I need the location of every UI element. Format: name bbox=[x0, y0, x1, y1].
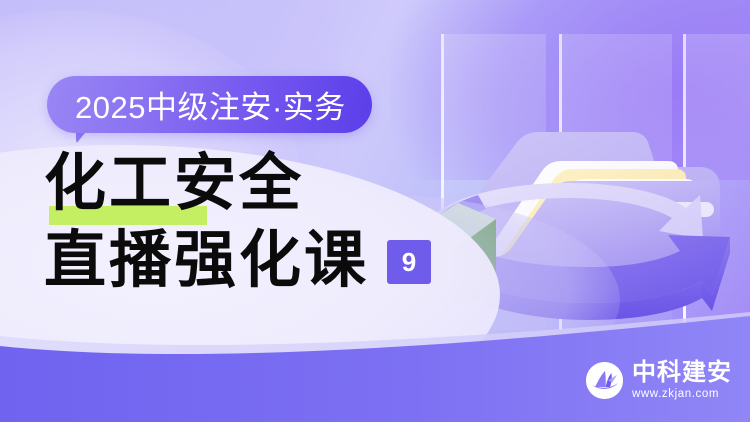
course-badge-label: 2025中级注安·实务 bbox=[75, 82, 346, 127]
brand-url: www.zkjan.com bbox=[632, 389, 719, 401]
brand-logo-text: 中科建安 www.zkjan.com bbox=[632, 361, 732, 401]
headline-block: 化工安全 直播强化课 9 bbox=[44, 150, 464, 293]
episode-number-badge: 9 bbox=[387, 240, 431, 284]
course-badge: 2025中级注安·实务 bbox=[47, 76, 372, 133]
headline-row-1: 化工安全 bbox=[44, 150, 464, 216]
headline-row-2: 直播强化课 9 bbox=[44, 227, 464, 293]
brand-logo[interactable]: 中科建安 www.zkjan.com bbox=[586, 361, 732, 401]
episode-number-label: 9 bbox=[402, 249, 416, 275]
headline-line-2: 直播强化课 bbox=[44, 227, 369, 293]
mountain-peak-circle-icon bbox=[586, 362, 623, 399]
brand-name: 中科建安 bbox=[632, 361, 732, 385]
headline-line-1: 化工安全 bbox=[44, 150, 304, 216]
course-promo-banner: 2025中级注安·实务 化工安全 直播强化课 9 中科建安 www bbox=[0, 0, 750, 422]
